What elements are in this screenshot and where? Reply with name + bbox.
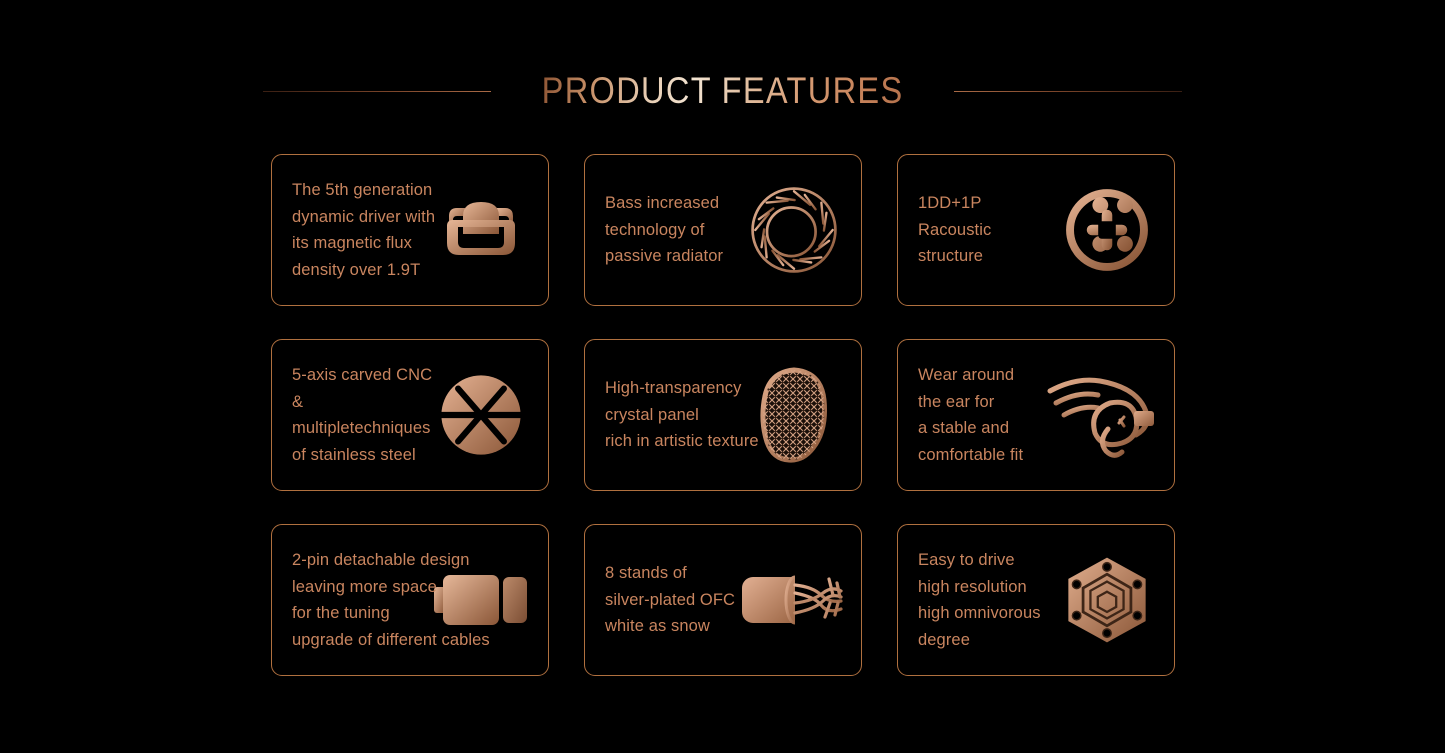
feature-line: 2-pin detachable design [292,547,490,574]
feature-card-cnc-machining[interactable]: 5-axis carved CNC & multipletechniques o… [271,339,549,491]
feature-line: The 5th generation [292,177,435,204]
feature-line: Bass increased [605,190,723,217]
hexagon-nut-icon [1052,545,1162,655]
braided-cable-icon [739,545,849,655]
feature-line: the ear for [918,389,1023,416]
feature-card-crystal-panel[interactable]: High-transparency crystal panel rich in … [584,339,862,491]
cnc-carved-disc-icon [426,360,536,470]
feature-line: 1DD+1P [918,190,991,217]
feature-line: high omnivorous [918,600,1041,627]
feature-line: dynamic driver with [292,204,435,231]
racoustic-structure-icon [1052,175,1162,285]
page-title: PRODUCT FEATURES [542,70,904,112]
feature-line: Racoustic [918,217,991,244]
feature-card-grid: The 5th generation dynamic driver with i… [271,154,1175,676]
feature-card-text: Bass increased technology of passive rad… [585,190,723,270]
feature-card-text: Easy to drive high resolution high omniv… [898,547,1041,653]
feature-line: multipletechniques [292,415,432,442]
feature-card-passive-radiator[interactable]: Bass increased technology of passive rad… [584,154,862,306]
feature-line: comfortable fit [918,442,1023,469]
feature-line: & [292,389,432,416]
feature-line: technology of [605,217,723,244]
feature-line: rich in artistic texture [605,428,759,455]
feature-line: high resolution [918,574,1041,601]
dynamic-driver-icon [426,175,536,285]
feature-line: density over 1.9T [292,257,435,284]
feature-line: passive radiator [605,243,723,270]
feature-line: its magnetic flux [292,230,435,257]
feature-line: High-transparency [605,375,759,402]
passive-radiator-iris-icon [739,175,849,285]
feature-card-dynamic-driver[interactable]: The 5th generation dynamic driver with i… [271,154,549,306]
feature-line: for the tuning [292,600,490,627]
feature-line: degree [918,627,1041,654]
feature-card-two-pin-connector[interactable]: 2-pin detachable design leaving more spa… [271,524,549,676]
feature-line: leaving more space [292,574,490,601]
feature-line: of stainless steel [292,442,432,469]
feature-card-over-ear-fit[interactable]: Wear around the ear for a stable and com… [897,339,1175,491]
header-rule-right [954,91,1182,92]
feature-card-text: Wear around the ear for a stable and com… [898,362,1023,468]
feature-line: silver-plated OFC [605,587,735,614]
feature-card-text: High-transparency crystal panel rich in … [585,375,759,455]
feature-line: Easy to drive [918,547,1041,574]
feature-line: crystal panel [605,402,759,429]
feature-card-text: The 5th generation dynamic driver with i… [272,177,435,283]
page-header: PRODUCT FEATURES [0,63,1445,119]
feature-line: structure [918,243,991,270]
feature-card-easy-to-drive[interactable]: Easy to drive high resolution high omniv… [897,524,1175,676]
feature-card-text: 1DD+1P Racoustic structure [898,190,991,270]
feature-line: 8 stands of [605,560,735,587]
header-rule-left [263,91,491,92]
feature-line: upgrade of different cables [292,627,490,654]
feature-line: Wear around [918,362,1023,389]
feature-line: 5-axis carved CNC [292,362,432,389]
feature-card-text: 8 stands of silver-plated OFC white as s… [585,560,735,640]
feature-card-racoustic-structure[interactable]: 1DD+1P Racoustic structure [897,154,1175,306]
over-ear-earphone-icon [1052,360,1162,470]
feature-line: white as snow [605,613,735,640]
feature-card-text: 2-pin detachable design leaving more spa… [272,547,490,653]
feature-card-text: 5-axis carved CNC & multipletechniques o… [272,362,432,468]
feature-card-ofc-cable[interactable]: 8 stands of silver-plated OFC white as s… [584,524,862,676]
feature-line: a stable and [918,415,1023,442]
